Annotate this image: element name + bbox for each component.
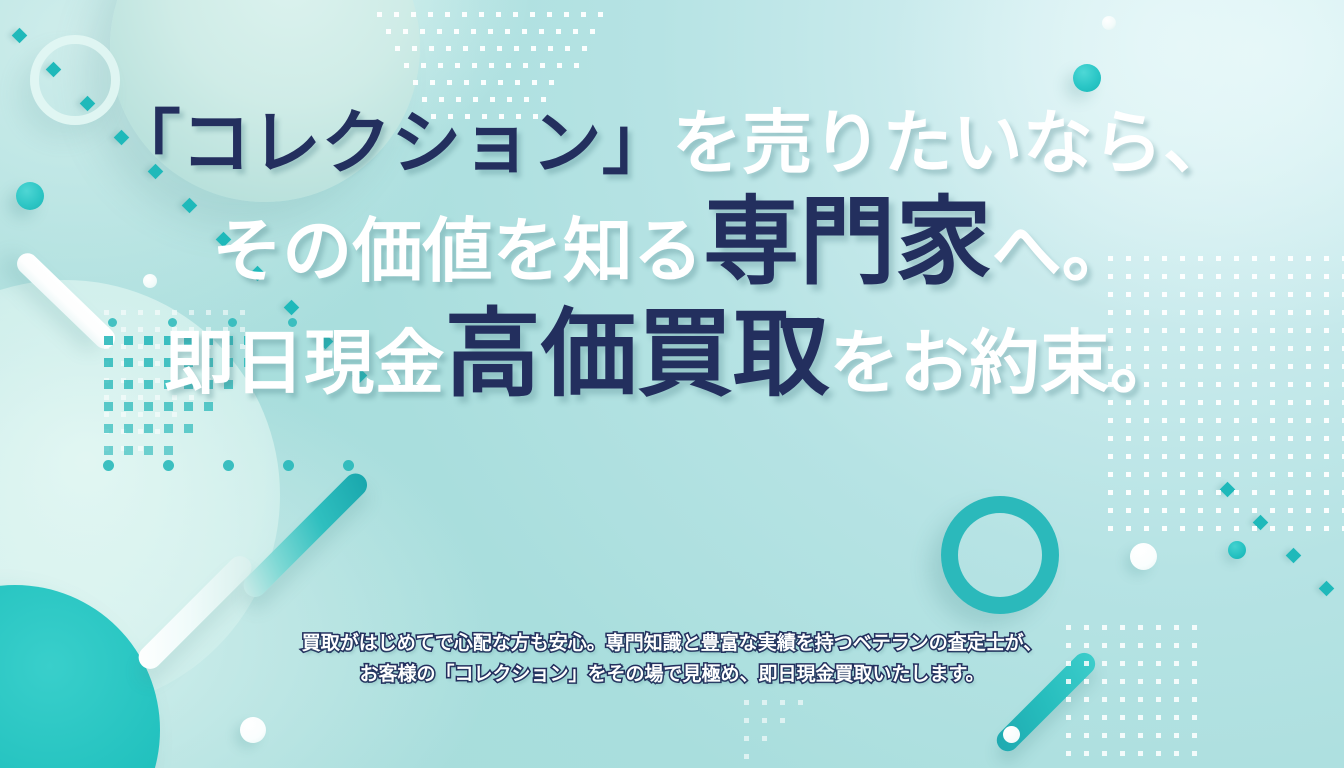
grid-dot: [413, 80, 418, 85]
grid-dot: [522, 29, 527, 34]
grid-dot: [1066, 733, 1071, 738]
grid-dot: [404, 63, 409, 68]
grid-dot: [455, 63, 460, 68]
grid-dot: [1198, 526, 1203, 531]
grid-dot: [121, 412, 126, 417]
white-dot-c: [1130, 543, 1157, 570]
grid-dot: [395, 46, 400, 51]
grid-dot: [1252, 454, 1257, 459]
grid-dot: [463, 46, 468, 51]
grid-dot: [462, 12, 467, 17]
grid-dot: [1324, 472, 1329, 477]
grid-dot: [1288, 418, 1293, 423]
headline-line-3-white-b: をお約束。: [829, 322, 1180, 404]
grid-dot: [411, 12, 416, 17]
grid-dot: [531, 46, 536, 51]
grid-dot: [1306, 454, 1311, 459]
grid-dot: [1324, 418, 1329, 423]
grid-dot: [1144, 472, 1149, 477]
grid-dot: [1156, 751, 1161, 756]
grid-dot: [1234, 526, 1239, 531]
grid-dot: [437, 29, 442, 34]
headline-line-3: 即日現金高価買取をお約束。: [0, 306, 1344, 402]
grid-dot: [1198, 508, 1203, 513]
grid-dot: [1156, 715, 1161, 720]
grid-dot: [1234, 436, 1239, 441]
grid-dot: [1324, 436, 1329, 441]
teal-grid-dot: [144, 402, 153, 411]
grid-dot: [1252, 436, 1257, 441]
grid-dot: [1288, 490, 1293, 495]
grid-dot: [1234, 472, 1239, 477]
grid-dot: [1144, 436, 1149, 441]
grid-dot: [1234, 454, 1239, 459]
grid-dot: [1084, 751, 1089, 756]
diamond-dot: [1319, 581, 1335, 597]
grid-dot: [1324, 454, 1329, 459]
grid-dot: [1144, 490, 1149, 495]
grid-dot: [403, 29, 408, 34]
grid-dot: [1252, 490, 1257, 495]
grid-dot: [1306, 472, 1311, 477]
grid-dot: [421, 63, 426, 68]
teal-grid-dot: [144, 446, 153, 455]
grid-dot: [1084, 733, 1089, 738]
grid-dot: [1270, 454, 1275, 459]
teal-grid-dot: [184, 424, 193, 433]
grid-dot: [429, 46, 434, 51]
grid-dot: [138, 429, 143, 434]
grid-dot: [598, 12, 603, 17]
subcopy-line-2: お客様の「コレクション」をその場で見極め、即日現金買取いたします。: [0, 659, 1344, 690]
teal-dot-bottom-right: [1228, 541, 1246, 559]
grid-dot: [744, 754, 749, 759]
grid-dot: [564, 12, 569, 17]
grid-dot: [1162, 526, 1167, 531]
teal-grid-dot: [104, 446, 113, 455]
grid-dot: [1108, 526, 1113, 531]
grid-dot: [464, 80, 469, 85]
diamond-dot: [1286, 548, 1302, 564]
grid-dot: [1108, 490, 1113, 495]
grid-dot: [447, 80, 452, 85]
subcopy-line-1: 買取がはじめてで心配な方も安心。専門知識と豊富な実績を持つベテランの査定士が、: [0, 628, 1344, 659]
grid-dot: [1066, 697, 1071, 702]
grid-dot: [1252, 472, 1257, 477]
headline-line-3-white-a: 即日現金: [164, 322, 445, 404]
grid-dot: [1174, 751, 1179, 756]
white-dot-e: [1003, 726, 1020, 743]
headline-line-1-white: を売りたいなら、: [672, 102, 1233, 184]
grid-dot: [1108, 436, 1113, 441]
grid-dot: [1174, 715, 1179, 720]
grid-dot: [1306, 508, 1311, 513]
grid-dot: [581, 12, 586, 17]
grid-dot: [565, 46, 570, 51]
grid-dot: [1144, 418, 1149, 423]
grid-dot: [1306, 490, 1311, 495]
grid-dot: [1216, 472, 1221, 477]
grid-dot: [138, 412, 143, 417]
white-dot-d: [240, 717, 266, 743]
grid-dot: [1324, 526, 1329, 531]
teal-grid-dot: [144, 424, 153, 433]
grid-dot: [744, 736, 749, 741]
teal-dot-top-right: [1073, 64, 1101, 92]
grid-dot: [590, 29, 595, 34]
teal-grid-dot: [164, 446, 173, 455]
grid-dot: [1162, 436, 1167, 441]
teal-row-dot: [223, 460, 234, 471]
grid-dot: [1120, 733, 1125, 738]
grid-dot: [471, 29, 476, 34]
grid-dot: [1162, 490, 1167, 495]
grid-dot: [557, 63, 562, 68]
grid-dot: [1174, 733, 1179, 738]
grid-dot: [556, 29, 561, 34]
grid-dot: [1270, 526, 1275, 531]
grid-dot: [472, 63, 477, 68]
grid-dot: [540, 63, 545, 68]
grid-dot: [530, 12, 535, 17]
grid-dot: [1084, 715, 1089, 720]
headline-block: 「コレクション」を売りたいなら、 その価値を知る専門家へ。 即日現金高価買取をお…: [0, 108, 1344, 402]
grid-dot: [1126, 490, 1131, 495]
grid-dot: [1180, 418, 1185, 423]
grid-dot: [1180, 526, 1185, 531]
grid-dot: [1288, 454, 1293, 459]
grid-dot: [515, 80, 520, 85]
grid-dot: [548, 46, 553, 51]
grid-dot: [1156, 733, 1161, 738]
grid-dot: [1138, 751, 1143, 756]
grid-dot: [480, 46, 485, 51]
grid-dot: [155, 429, 160, 434]
hero-banner: 「コレクション」を売りたいなら、 その価値を知る専門家へ。 即日現金高価買取をお…: [0, 0, 1344, 768]
grid-dot: [1102, 751, 1107, 756]
grid-dot: [1108, 508, 1113, 513]
grid-dot: [489, 63, 494, 68]
grid-dot: [1066, 751, 1071, 756]
grid-dot: [1192, 697, 1197, 702]
grid-dot: [1216, 490, 1221, 495]
grid-dot: [1126, 472, 1131, 477]
grid-dot: [1270, 418, 1275, 423]
grid-dot: [1126, 508, 1131, 513]
grid-dot: [798, 700, 803, 705]
grid-dot: [780, 718, 785, 723]
grid-dot: [1288, 526, 1293, 531]
grid-dot: [1270, 472, 1275, 477]
grid-dot: [762, 700, 767, 705]
teal-row-dot: [283, 460, 294, 471]
grid-dot: [1216, 526, 1221, 531]
grid-dot: [420, 29, 425, 34]
grid-dot: [1198, 454, 1203, 459]
grid-dot: [104, 412, 109, 417]
grid-dot: [1120, 697, 1125, 702]
grid-dot: [780, 700, 785, 705]
grid-dot: [1198, 418, 1203, 423]
grid-dot: [1234, 508, 1239, 513]
grid-dot: [1252, 526, 1257, 531]
grid-dot: [1180, 490, 1185, 495]
grid-dot: [1120, 715, 1125, 720]
grid-dot: [1192, 715, 1197, 720]
grid-dot: [497, 46, 502, 51]
headline-line-2-navy: 専門家: [703, 186, 991, 298]
grid-dot: [1138, 733, 1143, 738]
headline-line-3-navy: 高価買取: [445, 298, 830, 410]
grid-dot: [138, 446, 143, 451]
grid-dot: [1108, 472, 1113, 477]
white-dot-b: [1102, 16, 1116, 30]
grid-dot: [1252, 508, 1257, 513]
grid-dot: [1108, 418, 1113, 423]
teal-grid-dot: [104, 402, 113, 411]
grid-dot: [172, 412, 177, 417]
grid-dot: [445, 12, 450, 17]
grid-dot: [1270, 436, 1275, 441]
teal-row-dot: [343, 460, 354, 471]
grid-dot: [1180, 472, 1185, 477]
grid-dot: [1216, 418, 1221, 423]
grid-dot: [513, 12, 518, 17]
headline-line-2-white-a: その価値を知る: [212, 210, 703, 292]
grid-dot: [1180, 454, 1185, 459]
grid-dot: [762, 718, 767, 723]
grid-dot: [479, 12, 484, 17]
teal-grid-dot: [164, 424, 173, 433]
grid-dot: [1234, 418, 1239, 423]
grid-dot: [1306, 418, 1311, 423]
grid-dot: [1306, 526, 1311, 531]
diamond-dot: [1220, 482, 1236, 498]
grid-dot: [762, 736, 767, 741]
grid-dot: [155, 412, 160, 417]
grid-dot: [574, 63, 579, 68]
teal-grid-dot: [124, 402, 133, 411]
grid-dot: [1126, 454, 1131, 459]
grid-dot: [573, 29, 578, 34]
grid-dot: [1108, 454, 1113, 459]
grid-dot: [1162, 472, 1167, 477]
grid-dot: [454, 29, 459, 34]
headline-line-2-white-b: へ。: [992, 210, 1132, 292]
grid-dot: [539, 29, 544, 34]
grid-dot: [498, 80, 503, 85]
grid-dot: [1252, 418, 1257, 423]
teal-grid-dot: [124, 424, 133, 433]
grid-dot: [446, 46, 451, 51]
grid-dot: [1126, 418, 1131, 423]
grid-dot: [1198, 472, 1203, 477]
headline-line-1-navy: 「コレクション」: [111, 102, 672, 184]
subcopy-block: 買取がはじめてで心配な方も安心。専門知識と豊富な実績を持つベテランの査定士が、 …: [0, 628, 1344, 690]
teal-grid-dot: [124, 446, 133, 455]
grid-dot: [1234, 490, 1239, 495]
teal-grid-dot: [104, 424, 113, 433]
grid-dot: [1084, 697, 1089, 702]
grid-dot: [1270, 490, 1275, 495]
grid-dot: [744, 718, 749, 723]
grid-dot: [1102, 733, 1107, 738]
grid-dot: [547, 12, 552, 17]
grid-dot: [496, 12, 501, 17]
grid-dot: [1306, 436, 1311, 441]
grid-dot: [1066, 715, 1071, 720]
grid-dot: [1288, 472, 1293, 477]
grid-dot: [523, 63, 528, 68]
grid-dot: [481, 80, 486, 85]
grid-dot: [1162, 454, 1167, 459]
grid-dot: [430, 80, 435, 85]
grid-dot: [428, 12, 433, 17]
grid-dot: [438, 63, 443, 68]
grid-dot: [1192, 751, 1197, 756]
grid-dot: [1126, 436, 1131, 441]
grid-dot: [1174, 697, 1179, 702]
teal-row-dot: [163, 460, 174, 471]
grid-dot: [1216, 436, 1221, 441]
grid-dot: [1288, 508, 1293, 513]
grid-dot: [514, 46, 519, 51]
grid-dot: [505, 29, 510, 34]
grid-dot: [1120, 751, 1125, 756]
grid-dot: [1324, 508, 1329, 513]
grid-dot: [1192, 733, 1197, 738]
grid-dot: [377, 12, 382, 17]
grid-dot: [1324, 490, 1329, 495]
diamond-dot: [12, 28, 28, 44]
grid-dot: [1138, 697, 1143, 702]
grid-dot: [506, 63, 511, 68]
grid-dot: [1288, 436, 1293, 441]
grid-dot: [1198, 436, 1203, 441]
grid-dot: [1144, 508, 1149, 513]
grid-dot: [386, 29, 391, 34]
grid-dot: [1102, 697, 1107, 702]
grid-dot: [1144, 526, 1149, 531]
grid-dot: [1162, 508, 1167, 513]
grid-dot: [744, 700, 749, 705]
grid-dot: [1270, 508, 1275, 513]
grid-dot: [532, 80, 537, 85]
grid-dot: [1198, 490, 1203, 495]
grid-dot: [1180, 508, 1185, 513]
grid-dot: [1216, 508, 1221, 513]
grid-dot: [1162, 418, 1167, 423]
grid-dot: [412, 46, 417, 51]
teal-row-dot: [103, 460, 114, 471]
grid-dot: [1156, 697, 1161, 702]
grid-dot: [549, 80, 554, 85]
grid-dot: [1126, 526, 1131, 531]
grid-dot: [1144, 454, 1149, 459]
outline-ring-icon-teal: [941, 496, 1059, 614]
grid-dot: [1216, 454, 1221, 459]
grid-dot: [488, 29, 493, 34]
grid-dot: [394, 12, 399, 17]
headline-line-1: 「コレクション」を売りたいなら、: [0, 108, 1344, 178]
grid-dot: [1180, 436, 1185, 441]
grid-dot: [582, 46, 587, 51]
grid-dot: [1138, 715, 1143, 720]
headline-line-2: その価値を知る専門家へ。: [0, 194, 1344, 290]
grid-dot: [1102, 715, 1107, 720]
